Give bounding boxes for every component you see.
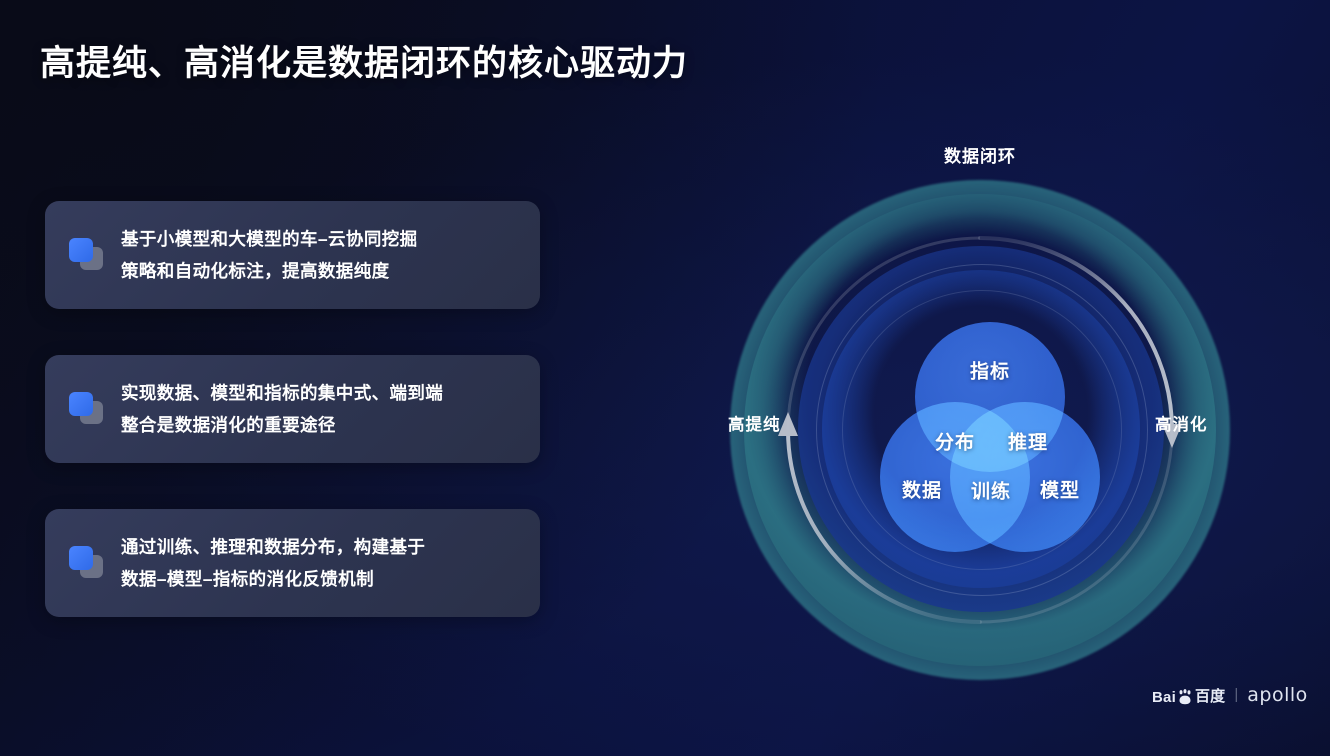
venn-label-model: 模型: [1040, 476, 1080, 503]
bullet-card-line: 通过训练、推理和数据分布，构建基于: [121, 531, 425, 563]
bullet-card-text: 实现数据、模型和指标的集中式、端到端 整合是数据消化的重要途径: [121, 377, 443, 441]
stacked-squares-icon: [67, 546, 103, 580]
venn-label-inference: 推理: [1008, 428, 1048, 455]
bullet-card[interactable]: 基于小模型和大模型的车–云协同挖掘 策略和自动化标注，提高数据纯度: [45, 201, 540, 309]
brand-logo: Bai 百度 | apollo: [1152, 682, 1308, 708]
bullet-card-line: 整合是数据消化的重要途径: [121, 409, 443, 441]
stacked-squares-icon: [67, 238, 103, 272]
venn-label-metrics: 指标: [970, 357, 1010, 384]
bullet-card-line: 基于小模型和大模型的车–云协同挖掘: [121, 223, 418, 255]
data-closed-loop-diagram: 数据闭环 指标 数据 模型 分布 推理 训练: [700, 130, 1260, 690]
logo-separator: |: [1234, 687, 1238, 704]
baidu-logo: Bai 百度: [1152, 685, 1225, 706]
bear-paw-icon: [1177, 689, 1194, 705]
bullet-card-line: 实现数据、模型和指标的集中式、端到端: [121, 377, 443, 409]
venn-label-distribution: 分布: [935, 428, 975, 455]
diagram-title: 数据闭环: [700, 142, 1260, 167]
side-label-high-digestion: 高消化: [1155, 411, 1208, 435]
bullet-card[interactable]: 通过训练、推理和数据分布，构建基于 数据–模型–指标的消化反馈机制: [45, 509, 540, 617]
bullet-card-line: 数据–模型–指标的消化反馈机制: [121, 563, 425, 595]
venn-label-data: 数据: [902, 476, 942, 503]
venn-label-training: 训练: [971, 477, 1011, 504]
bullet-card-text: 通过训练、推理和数据分布，构建基于 数据–模型–指标的消化反馈机制: [121, 531, 425, 595]
bullet-card-list: 基于小模型和大模型的车–云协同挖掘 策略和自动化标注，提高数据纯度 实现数据、模…: [45, 201, 540, 617]
bullet-card-line: 策略和自动化标注，提高数据纯度: [121, 255, 418, 287]
slide-canvas: 高提纯、高消化是数据闭环的核心驱动力 基于小模型和大模型的车–云协同挖掘 策略和…: [0, 0, 1330, 756]
page-title: 高提纯、高消化是数据闭环的核心驱动力: [40, 35, 688, 86]
bullet-card[interactable]: 实现数据、模型和指标的集中式、端到端 整合是数据消化的重要途径: [45, 355, 540, 463]
baidu-logo-latin: Bai: [1152, 689, 1176, 706]
stacked-squares-icon: [67, 392, 103, 426]
bullet-card-text: 基于小模型和大模型的车–云协同挖掘 策略和自动化标注，提高数据纯度: [121, 223, 418, 287]
side-label-high-purification: 高提纯: [728, 411, 781, 435]
apollo-logo: apollo: [1247, 684, 1308, 706]
baidu-logo-cn: 百度: [1195, 685, 1225, 706]
